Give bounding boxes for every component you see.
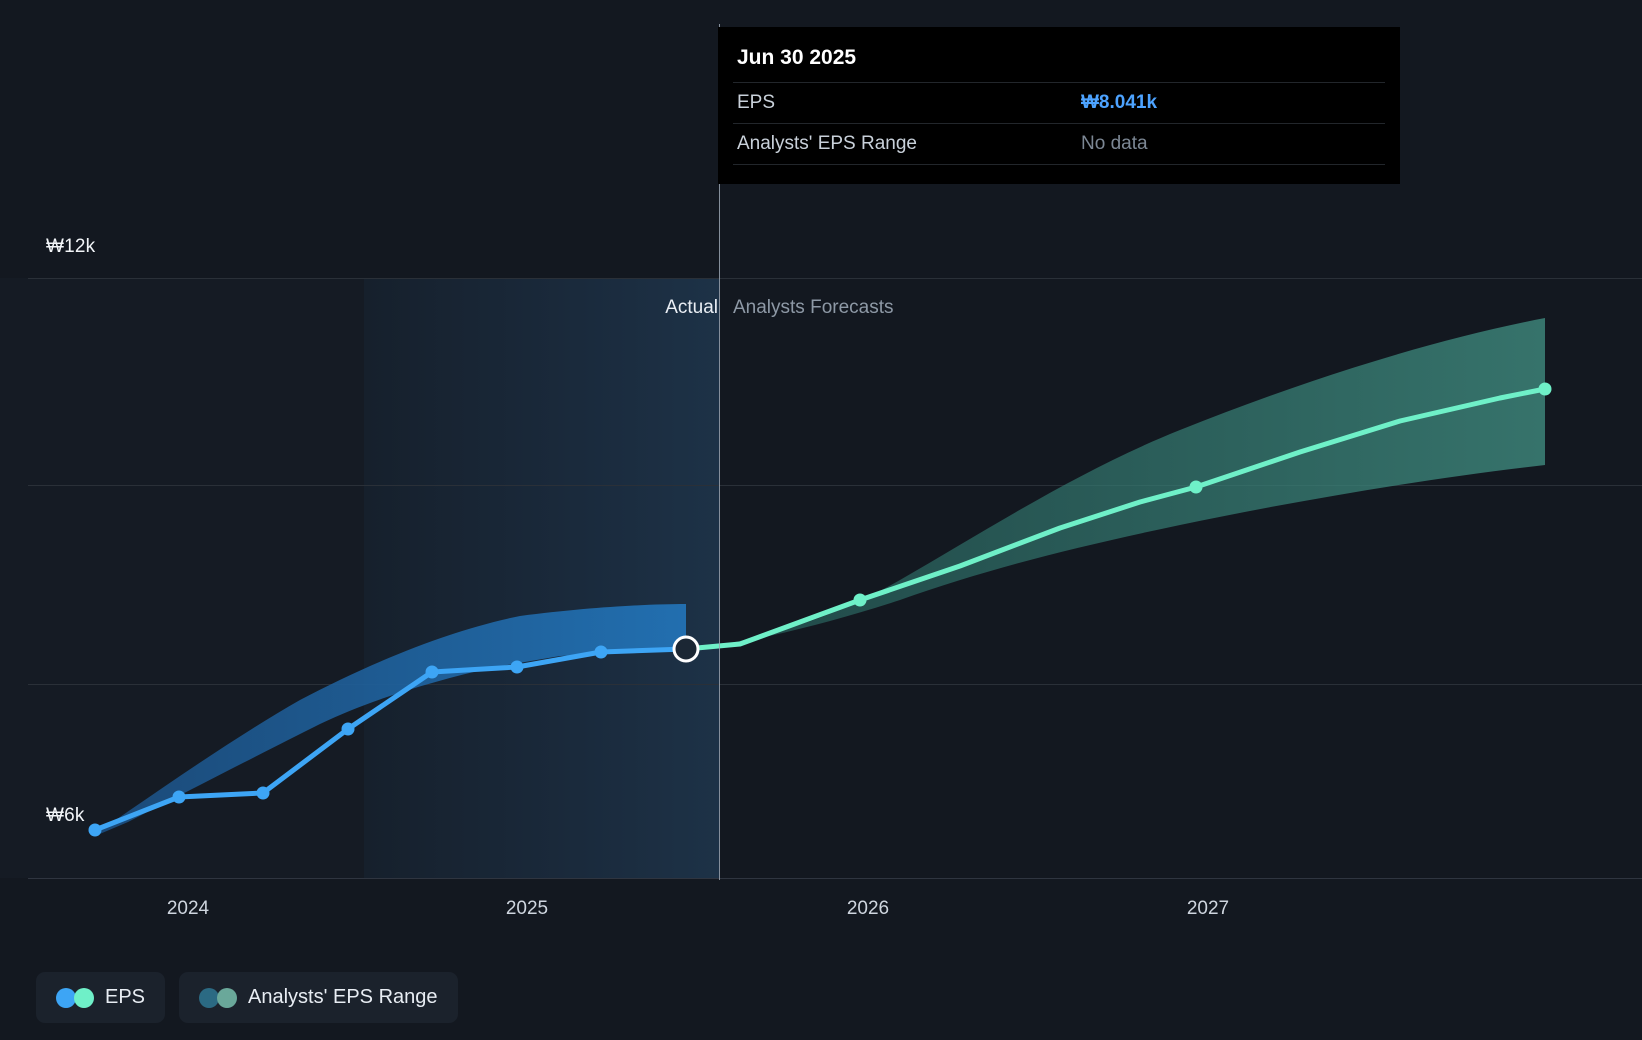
tooltip-range-label: Analysts' EPS Range <box>737 133 917 155</box>
data-point-actual[interactable] <box>173 791 186 804</box>
data-point-actual[interactable] <box>595 646 608 659</box>
x-axis-label-2025: 2025 <box>467 898 587 920</box>
data-point-actual[interactable] <box>511 661 524 674</box>
data-point-actual[interactable] <box>257 787 270 800</box>
tooltip-row-eps: EPS ₩8.041k <box>733 82 1385 123</box>
tooltip-eps-label: EPS <box>737 92 775 114</box>
legend-label-range: Analysts' EPS Range <box>248 986 437 1009</box>
tooltip-eps-value: ₩8.041k <box>1081 92 1381 114</box>
legend-item-eps[interactable]: EPS <box>36 972 165 1023</box>
section-label-forecast: Analysts Forecasts <box>733 297 894 319</box>
data-point-selected[interactable] <box>673 636 700 663</box>
data-point-actual[interactable] <box>342 723 355 736</box>
eps-forecast-chart: Actual Analysts Forecasts ₩12k ₩6k 2024 … <box>0 0 1642 1040</box>
legend-swatch-range-icon <box>199 988 237 1008</box>
data-point-forecast[interactable] <box>1539 383 1552 396</box>
tooltip-footer-divider <box>733 164 1385 175</box>
chart-tooltip: Jun 30 2025 EPS ₩8.041k Analysts' EPS Ra… <box>719 28 1399 183</box>
tooltip-range-value: No data <box>1081 133 1381 155</box>
legend-label-eps: EPS <box>105 986 145 1009</box>
data-point-forecast[interactable] <box>854 594 867 607</box>
x-axis-label-2027: 2027 <box>1148 898 1268 920</box>
legend-swatch-eps-icon <box>56 988 94 1008</box>
data-point-forecast[interactable] <box>1190 481 1203 494</box>
x-axis-label-2026: 2026 <box>808 898 928 920</box>
legend-item-range[interactable]: Analysts' EPS Range <box>179 972 457 1023</box>
data-point-actual[interactable] <box>426 666 439 679</box>
x-axis-label-2024: 2024 <box>128 898 248 920</box>
data-point-actual[interactable] <box>89 824 102 837</box>
chart-legend: EPS Analysts' EPS Range <box>36 972 458 1023</box>
range-band-forecast <box>690 318 1545 651</box>
y-axis-label-bottom: ₩6k <box>46 805 85 827</box>
tooltip-title: Jun 30 2025 <box>719 28 1399 82</box>
tooltip-row-range: Analysts' EPS Range No data <box>733 123 1385 164</box>
y-axis-label-top: ₩12k <box>46 236 95 258</box>
section-label-actual: Actual <box>665 297 718 319</box>
